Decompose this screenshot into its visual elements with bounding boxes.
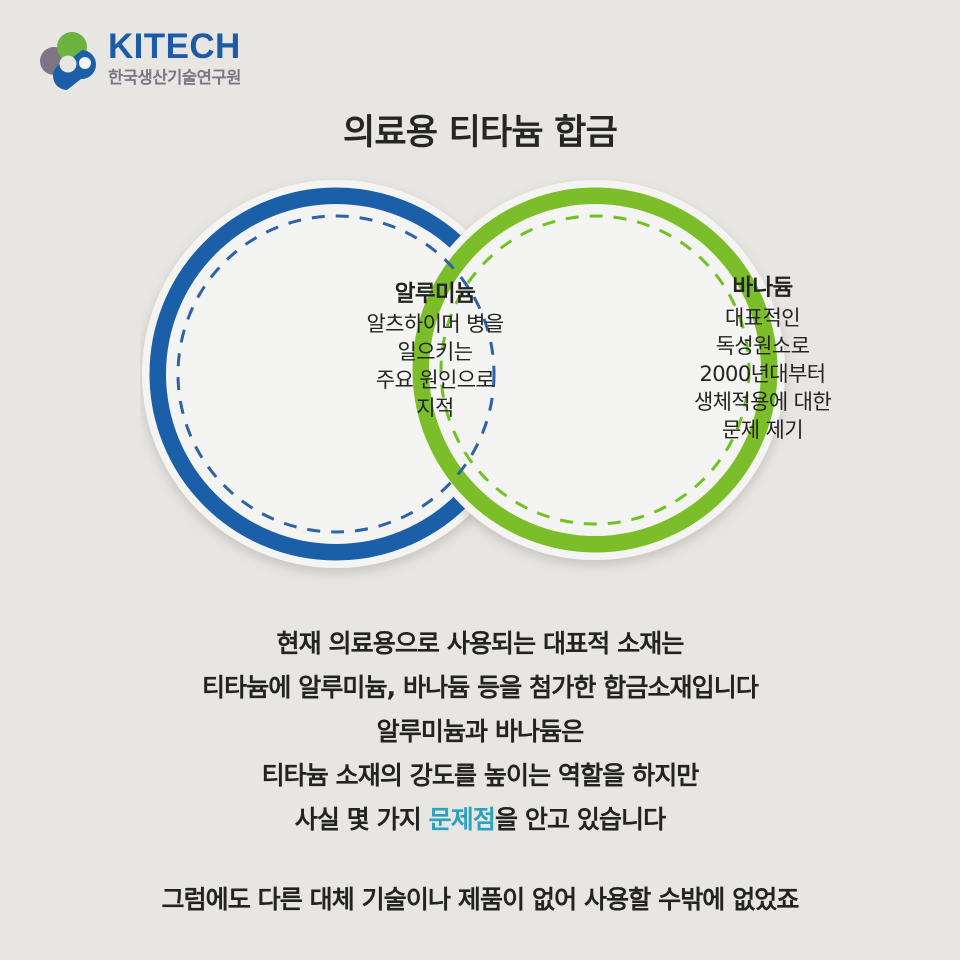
venn-right-line-5: 문제 제기 [640, 416, 885, 444]
venn-right-heading: 바나듐 [640, 273, 885, 303]
venn-diagram: 알루미늄 알츠하이머 병을 일으키는 주요 원인으로 지적 바나듐 대표적인 독… [140, 175, 820, 585]
closing-line: 그럼에도 다른 대체 기술이나 제품이 없어 사용할 수밖에 없었죠 [0, 883, 960, 917]
venn-left-line-2: 일으키는 [320, 338, 550, 366]
kitech-logo: KITECH 한국생산기술연구원 [36, 28, 296, 100]
infographic-card: KITECH 한국생산기술연구원 의료용 티타늄 합금 [0, 0, 960, 960]
venn-left-heading: 알루미늄 [320, 279, 550, 309]
logo-wordmark: KITECH [108, 28, 298, 66]
highlight-word: 문제점 [429, 805, 495, 834]
venn-left-line-1: 알츠하이머 병을 [320, 310, 550, 338]
body-line-5-highlight: 사실 몇 가지 문제점을 안고 있습니다 [0, 798, 960, 842]
venn-right-line-3: 2000년대부터 [640, 360, 885, 388]
kitech-logo-mark-icon [36, 32, 104, 94]
body-line-1: 현재 의료용으로 사용되는 대표적 소재는 [0, 622, 960, 666]
venn-left-line-4: 지적 [320, 394, 550, 422]
logo-subtitle: 한국생산기술연구원 [108, 67, 298, 88]
venn-left-line-3: 주요 원인으로 [320, 366, 550, 394]
venn-label-left: 알루미늄 알츠하이머 병을 일으키는 주요 원인으로 지적 [320, 279, 550, 422]
body-line-4: 티타늄 소재의 강도를 높이는 역할을 하지만 [0, 754, 960, 798]
venn-label-right: 바나듐 대표적인 독성원소로 2000년대부터 생체적용에 대한 문제 제기 [640, 273, 885, 444]
body-line-2: 티타늄에 알루미늄, 바나듐 등을 첨가한 합금소재입니다 [0, 666, 960, 710]
kitech-logo-text: KITECH 한국생산기술연구원 [108, 28, 298, 88]
highlight-prefix: 사실 몇 가지 [295, 805, 429, 834]
body-line-3: 알루미늄과 바나듐은 [0, 710, 960, 754]
highlight-suffix: 을 안고 있습니다 [495, 805, 665, 834]
body-copy: 현재 의료용으로 사용되는 대표적 소재는 티타늄에 알루미늄, 바나듐 등을 … [0, 622, 960, 842]
page-title: 의료용 티타늄 합금 [0, 104, 960, 155]
venn-right-line-2: 독성원소로 [640, 332, 885, 360]
venn-right-line-4: 생체적용에 대한 [640, 388, 885, 416]
venn-right-line-1: 대표적인 [640, 304, 885, 332]
